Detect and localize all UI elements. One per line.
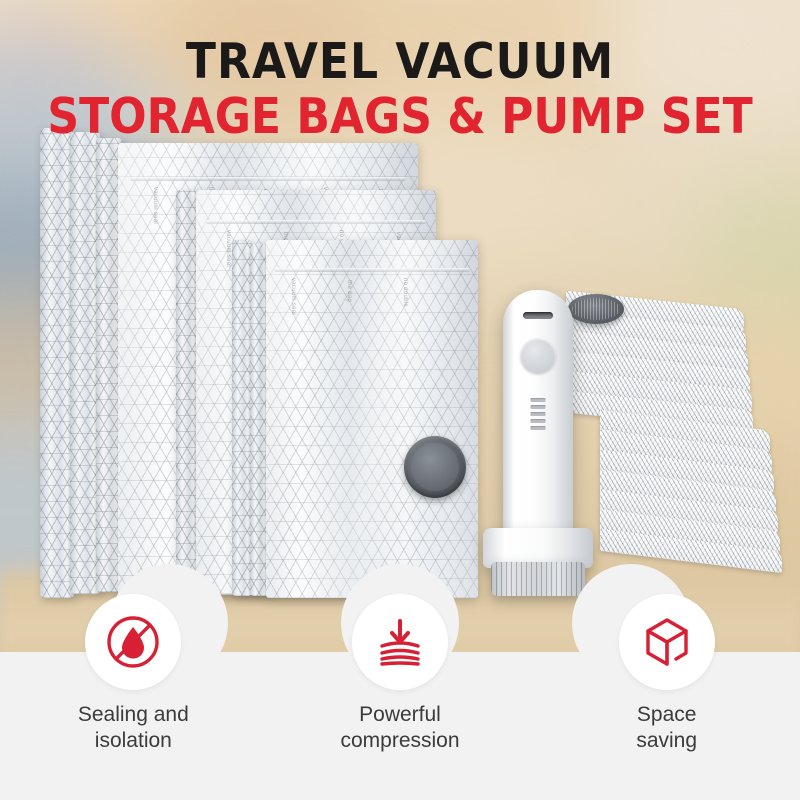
feature-label-2: Powerful compression xyxy=(340,702,459,754)
bag-roll-1 xyxy=(40,128,74,598)
air-valve xyxy=(404,436,466,498)
vacuum-pump xyxy=(483,290,613,610)
pump-ribbed-base xyxy=(491,562,585,596)
feature-icon-circle-1 xyxy=(85,594,181,690)
banner-title: TRAVEL VACUUM STORAGE BAGS & PUMP SET xyxy=(0,36,800,144)
folded-bag-stack-lower xyxy=(600,420,800,620)
cube-box-icon xyxy=(638,613,696,671)
pump-power-button[interactable] xyxy=(520,338,556,374)
title-line-1: TRAVEL VACUUM xyxy=(0,36,800,88)
title-line-2: STORAGE BAGS & PUMP SET xyxy=(0,90,800,144)
pump-led-indicators xyxy=(531,398,546,430)
product-banner: TRAVEL VACUUM STORAGE BAGS & PUMP SET va… xyxy=(0,0,800,800)
feature-icon-circle-3 xyxy=(619,594,715,690)
pump-air-slot xyxy=(523,312,553,319)
feature-powerful-compression[interactable]: Powerful compression xyxy=(267,594,534,800)
feature-label-1: Sealing and isolation xyxy=(78,702,189,754)
down-arrow-compression-icon xyxy=(371,613,429,671)
bag-roll-4 xyxy=(176,190,198,592)
feature-label-1-line2: isolation xyxy=(78,728,189,754)
feature-icon-circle-2 xyxy=(352,594,448,690)
feature-label-3: Space saving xyxy=(636,702,697,754)
feature-label-1-line1: Sealing and xyxy=(78,702,189,728)
feature-label-3-line2: saving xyxy=(636,728,697,754)
vacuum-bag-front: vacuum seal the bag no double xyxy=(266,240,478,598)
feature-sealing-and-isolation[interactable]: Sealing and isolation xyxy=(0,594,267,800)
pump-body xyxy=(503,290,573,550)
feature-label-2-line2: compression xyxy=(340,728,459,754)
feature-label-3-line1: Space xyxy=(636,702,697,728)
feature-space-saving[interactable]: Space saving xyxy=(533,594,800,800)
feature-list: Sealing and isolation Powerful compressi… xyxy=(0,594,800,800)
bag-roll-5 xyxy=(232,240,252,596)
feature-label-2-line1: Powerful xyxy=(340,702,459,728)
no-water-drop-icon xyxy=(104,613,162,671)
